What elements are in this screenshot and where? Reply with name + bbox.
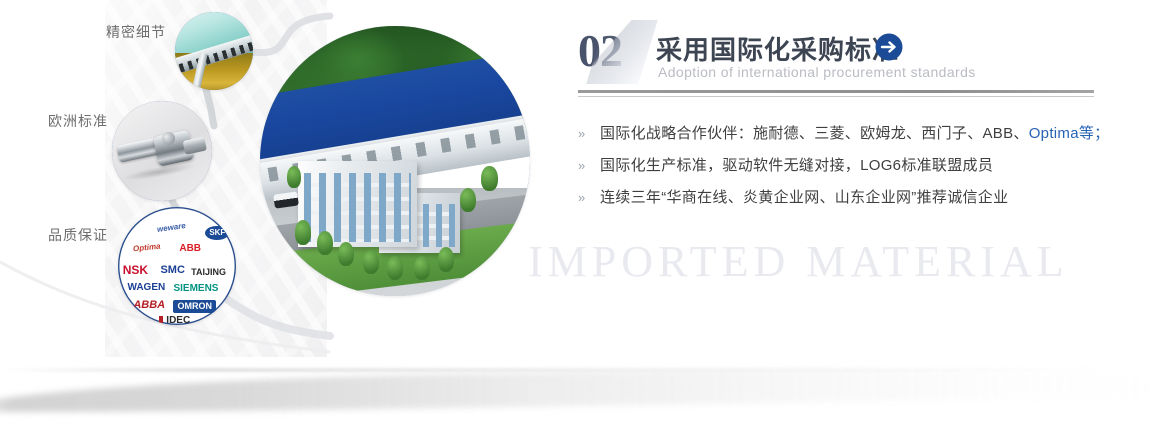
label-european-standard: 欧洲标准 xyxy=(48,111,108,131)
list-item: »国际化战略合作伙伴：施耐德、三菱、欧姆龙、西门子、ABB、Optima等； xyxy=(578,118,1098,150)
page-title: 采用国际化采购标准 xyxy=(656,30,899,67)
label-quality-assurance: 品质保证 xyxy=(48,225,108,245)
list-item-text: 国际化生产标准，驱动软件无缝对接，LOG6标准联盟成员 xyxy=(600,150,993,182)
arrow-right-circle-icon[interactable] xyxy=(874,32,904,62)
list-item-text-main: 国际化战略合作伙伴：施耐德、三菱、欧姆龙、西门子、ABB、 xyxy=(600,125,1029,142)
list-item: »连续三年“华商在线、炎黄企业网、山东企业网”推荐诚信企业 xyxy=(578,182,1098,214)
brand-logo-wagen: WAGEN xyxy=(127,283,165,293)
list-item-text: 连续三年“华商在线、炎黄企业网、山东企业网”推荐诚信企业 xyxy=(600,182,1008,214)
divider-thin xyxy=(578,96,1094,97)
precision-detail-photo[interactable] xyxy=(175,12,253,90)
list-item-text-main: 国际化生产标准，驱动软件无缝对接，LOG6标准联盟成员 xyxy=(600,157,993,174)
brand-logo-optima: Optima xyxy=(133,242,161,253)
list-item-accent-text: Optima xyxy=(1029,125,1079,142)
page-subtitle: Adoption of international procurement st… xyxy=(658,64,976,80)
brand-logo-skf: SKF xyxy=(205,226,229,240)
bullet-marker-icon: » xyxy=(578,150,585,182)
divider-thick xyxy=(578,90,1094,93)
office-building xyxy=(298,161,417,247)
list-item: »国际化生产标准，驱动软件无缝对接，LOG6标准联盟成员 xyxy=(578,150,1098,182)
brand-logo-abba: ABBA xyxy=(133,300,165,311)
promo-banner: 精密细节 欧洲标准 品质保证 wewareSKFOptimaABBNSKSMCT… xyxy=(0,0,1150,430)
brand-logo-siemens: SIEMENS xyxy=(173,284,218,294)
quality-brands-photo[interactable]: wewareSKFOptimaABBNSKSMCTAIJINGWAGENSIEM… xyxy=(118,207,236,325)
brand-logo-idec: IDEC xyxy=(159,316,190,325)
brand-logo-taijing: TAIJING xyxy=(191,268,226,277)
bullet-marker-icon: » xyxy=(578,118,585,150)
watermark-text: IMPORTED MATERIAL xyxy=(528,236,1150,287)
label-precision-detail: 精密细节 xyxy=(106,22,166,42)
list-item-text-tail: 等； xyxy=(1079,125,1110,142)
content-column: 02 采用国际化采购标准 Adoption of international p… xyxy=(578,0,1098,430)
brand-logo-nsk: NSK xyxy=(123,264,148,276)
list-item-text-main: 连续三年“华商在线、炎黄企业网、山东企业网”推荐诚信企业 xyxy=(600,189,1008,206)
european-standard-photo[interactable] xyxy=(112,101,212,201)
brand-logo-weware: weware xyxy=(157,222,187,234)
section-number: 02 xyxy=(578,24,622,77)
bullet-marker-icon: » xyxy=(578,182,585,214)
list-item-text: 国际化战略合作伙伴：施耐德、三菱、欧姆龙、西门子、ABB、Optima等； xyxy=(600,118,1109,150)
brand-logo-cloud: wewareSKFOptimaABBNSKSMCTAIJINGWAGENSIEM… xyxy=(118,207,236,325)
section-header: 02 采用国际化采购标准 Adoption of international p… xyxy=(578,24,1098,84)
factory-aerial-photo[interactable] xyxy=(260,26,530,296)
brand-logo-omron: OMRON xyxy=(173,300,216,313)
feature-list: »国际化战略合作伙伴：施耐德、三菱、欧姆龙、西门子、ABB、Optima等；»国… xyxy=(578,118,1098,214)
brand-logo-smc: SMC xyxy=(160,265,184,276)
brand-logo-abb: ABB xyxy=(179,244,201,254)
